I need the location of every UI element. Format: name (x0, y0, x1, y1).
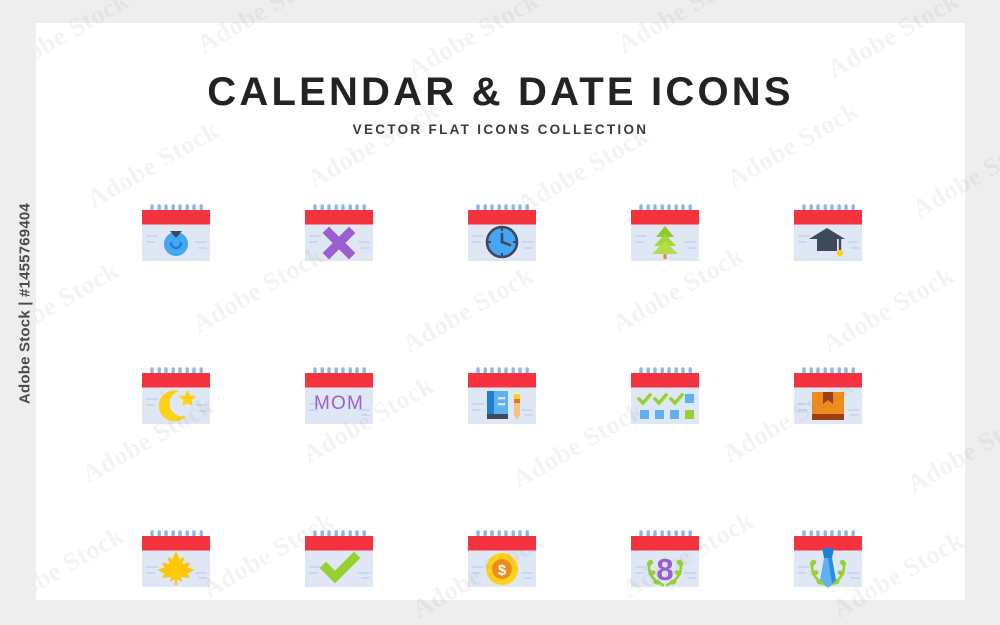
icon-cell-calendar-graduation-cap[interactable]: Graduation (746, 153, 909, 316)
calendar-book-pencil-icon (456, 352, 548, 444)
icon-cell-calendar-maple-leaf[interactable]: Autumn / Canada Day (94, 479, 257, 625)
icon-cell-calendar-womens-day[interactable]: 8 Women's Day (583, 479, 746, 625)
calendar-necktie-icon (782, 515, 874, 607)
content-card: CALENDAR & DATE ICONS VECTOR FLAT ICONS … (36, 23, 965, 600)
icon-cell-calendar-book-pencil[interactable]: Back To School (420, 316, 583, 479)
icon-cell-calendar-moon-star[interactable]: Ramadan / Eid (94, 316, 257, 479)
icon-cell-calendar-necktie[interactable]: Father's Day (746, 479, 909, 625)
icon-cell-calendar-mom-text[interactable]: MOM Mother's Day (257, 316, 420, 479)
icon-cell-calendar-cross-mark[interactable]: Cancelled Date (257, 153, 420, 316)
calendar-cross-mark-icon (293, 189, 385, 281)
mom-text: MOM (313, 393, 363, 414)
eight-numeral: 8 (656, 552, 673, 587)
calendar-delivery-box-icon (782, 352, 874, 444)
calendar-check-mark-icon (293, 515, 385, 607)
calendar-christmas-tree-icon (619, 189, 711, 281)
calendar-clock-icon (456, 189, 548, 281)
calendar-mom-text-icon: MOM (293, 352, 385, 444)
icon-grid: Wedding Day (94, 153, 909, 625)
adobe-stock-id-label: Adobe Stock | #1455769404 (17, 174, 34, 434)
icon-cell-calendar-dollar-coin[interactable]: $ Payday (420, 479, 583, 625)
page-title: CALENDAR & DATE ICONS (36, 70, 965, 115)
calendar-maple-leaf-icon (130, 515, 222, 607)
dollar-symbol: $ (497, 562, 506, 579)
icon-cell-calendar-delivery-box[interactable]: Delivery Date (746, 316, 909, 479)
calendar-moon-star-icon (130, 352, 222, 444)
icon-cell-calendar-wedding-ring[interactable]: Wedding Day (94, 153, 257, 316)
screenshot-stage: Adobe Stock Adobe Stock Adobe Stock Adob… (0, 0, 1000, 625)
icon-cell-calendar-clock[interactable]: Time & Schedule (420, 153, 583, 316)
icon-cell-calendar-check-mark[interactable]: Confirmed Date (257, 479, 420, 625)
page-subtitle: VECTOR FLAT ICONS COLLECTION (36, 122, 965, 137)
icon-cell-calendar-checklist[interactable]: Checklist (583, 316, 746, 479)
calendar-graduation-cap-icon (782, 189, 874, 281)
calendar-dollar-coin-icon: $ (456, 515, 548, 607)
calendar-checklist-icon (619, 352, 711, 444)
adobe-stock-sidebar: Adobe Stock | #1455769404 (0, 0, 36, 625)
icon-cell-calendar-christmas-tree[interactable]: Christmas (583, 153, 746, 316)
calendar-wedding-ring-icon (130, 189, 222, 281)
calendar-womens-day-icon: 8 (619, 515, 711, 607)
